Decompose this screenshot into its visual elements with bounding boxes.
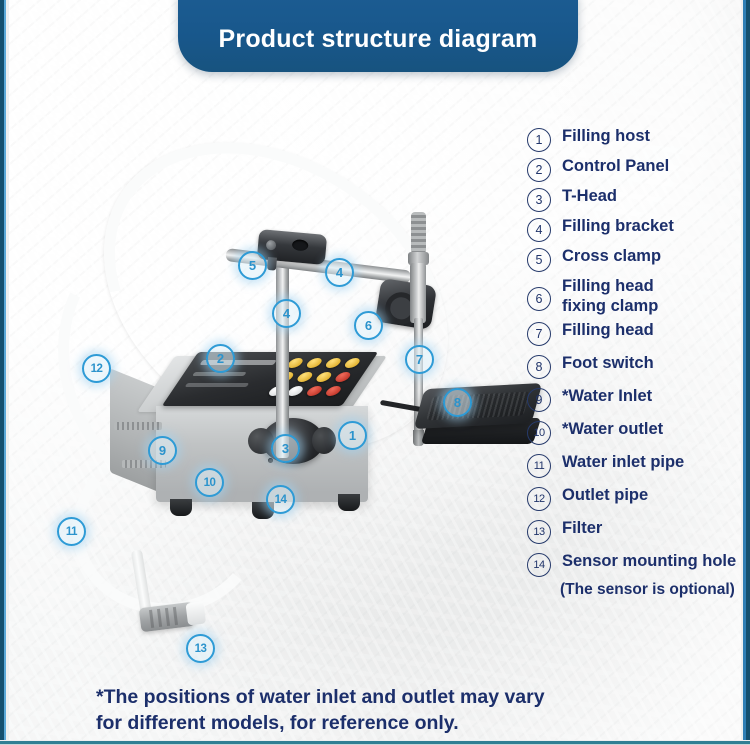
callout-marker-3[interactable]: 3 bbox=[271, 434, 300, 463]
footer-disclaimer: *The positions of water inlet and outlet… bbox=[96, 684, 656, 737]
legend-label-10: *Water outlet bbox=[562, 419, 663, 439]
legend-number-3: 3 bbox=[527, 188, 551, 212]
machine-illustration bbox=[30, 190, 530, 670]
callout-marker-10[interactable]: 10 bbox=[195, 468, 224, 497]
legend-item-9[interactable]: 9 *Water Inlet bbox=[527, 386, 745, 412]
legend-number-8: 8 bbox=[527, 355, 551, 379]
legend-number-2: 2 bbox=[527, 158, 551, 182]
machine-body-side-graphic bbox=[110, 368, 158, 491]
filling-head-fixing-clamp-graphic bbox=[375, 278, 437, 330]
legend-number-10: 10 bbox=[527, 421, 551, 445]
left-edge-stripe bbox=[0, 0, 9, 745]
legend-item-4[interactable]: 4 Filling bracket bbox=[527, 216, 745, 242]
legend-item-11[interactable]: 11 Water inlet pipe bbox=[527, 452, 745, 478]
legend-item-8[interactable]: 8 Foot switch bbox=[527, 353, 745, 379]
legend-number-4: 4 bbox=[527, 218, 551, 242]
legend-item-12[interactable]: 12 Outlet pipe bbox=[527, 485, 745, 511]
legend-item-3[interactable]: 3 T-Head bbox=[527, 186, 745, 212]
page-title: Product structure diagram bbox=[219, 25, 538, 54]
legend-number-11: 11 bbox=[527, 454, 551, 478]
control-panel-graphic bbox=[162, 352, 378, 406]
callout-marker-1[interactable]: 1 bbox=[338, 421, 367, 450]
legend-number-14: 14 bbox=[527, 553, 551, 577]
bottom-edge-stripe bbox=[0, 740, 750, 745]
callout-marker-7[interactable]: 7 bbox=[405, 345, 434, 374]
legend-number-5: 5 bbox=[527, 248, 551, 272]
legend-label-2: Control Panel bbox=[562, 156, 669, 176]
callout-marker-4[interactable]: 4 bbox=[325, 258, 354, 287]
legend-label-7: Filling head bbox=[562, 320, 654, 340]
sensor-optional-note: (The sensor is optional) bbox=[560, 581, 745, 599]
legend-list: 1 Filling host 2 Control Panel 3 T-Head … bbox=[527, 126, 745, 599]
callout-marker-4[interactable]: 4 bbox=[272, 299, 301, 328]
legend-label-14: Sensor mounting hole bbox=[562, 551, 736, 571]
filling-host-body-graphic bbox=[156, 406, 368, 502]
legend-number-9: 9 bbox=[527, 388, 551, 412]
filling-bracket-vertical-rod-graphic bbox=[276, 258, 289, 458]
legend-number-12: 12 bbox=[527, 487, 551, 511]
callout-marker-11[interactable]: 11 bbox=[57, 517, 86, 546]
callout-marker-5[interactable]: 5 bbox=[238, 251, 267, 280]
filling-head-barb-graphic bbox=[411, 212, 426, 254]
legend-label-5: Cross clamp bbox=[562, 246, 661, 266]
filling-head-body-graphic bbox=[410, 263, 426, 323]
cross-clamp-graphic bbox=[257, 229, 327, 265]
legend-label-1: Filling host bbox=[562, 126, 650, 146]
legend-item-7[interactable]: 7 Filling head bbox=[527, 320, 745, 346]
legend-item-2[interactable]: 2 Control Panel bbox=[527, 156, 745, 182]
footer-line-2: for different models, for reference only… bbox=[96, 710, 656, 736]
legend-number-13: 13 bbox=[527, 520, 551, 544]
legend-item-13[interactable]: 13 Filter bbox=[527, 518, 745, 544]
legend-label-11: Water inlet pipe bbox=[562, 452, 684, 472]
product-structure-diagram-page: Product structure diagram bbox=[0, 0, 750, 745]
filter-graphic bbox=[139, 602, 196, 632]
callout-marker-12[interactable]: 12 bbox=[82, 354, 111, 383]
callout-marker-8[interactable]: 8 bbox=[443, 388, 472, 417]
legend-item-1[interactable]: 1 Filling host bbox=[527, 126, 745, 152]
callout-marker-9[interactable]: 9 bbox=[148, 436, 177, 465]
foot-switch-pedal-graphic bbox=[414, 383, 543, 429]
callout-marker-6[interactable]: 6 bbox=[354, 311, 383, 340]
legend-number-6: 6 bbox=[527, 287, 551, 311]
legend-label-6: Filling head fixing clamp bbox=[562, 276, 658, 316]
legend-item-14[interactable]: 14 Sensor mounting hole bbox=[527, 551, 745, 577]
legend-label-9: *Water Inlet bbox=[562, 386, 652, 406]
legend-item-6[interactable]: 6 Filling head fixing clamp bbox=[527, 276, 745, 316]
legend-label-3: T-Head bbox=[562, 186, 617, 206]
title-banner: Product structure diagram bbox=[178, 0, 578, 72]
legend-label-8: Foot switch bbox=[562, 353, 654, 373]
callout-marker-2[interactable]: 2 bbox=[206, 344, 235, 373]
legend-item-5[interactable]: 5 Cross clamp bbox=[527, 246, 745, 272]
legend-label-12: Outlet pipe bbox=[562, 485, 648, 505]
callout-marker-13[interactable]: 13 bbox=[186, 634, 215, 663]
callout-marker-14[interactable]: 14 bbox=[266, 485, 295, 514]
legend-number-7: 7 bbox=[527, 322, 551, 346]
legend-number-1: 1 bbox=[527, 128, 551, 152]
footer-line-1: *The positions of water inlet and outlet… bbox=[96, 684, 656, 710]
legend-label-13: Filter bbox=[562, 518, 602, 538]
legend-label-4: Filling bracket bbox=[562, 216, 674, 236]
legend-item-10[interactable]: 10 *Water outlet bbox=[527, 419, 745, 445]
